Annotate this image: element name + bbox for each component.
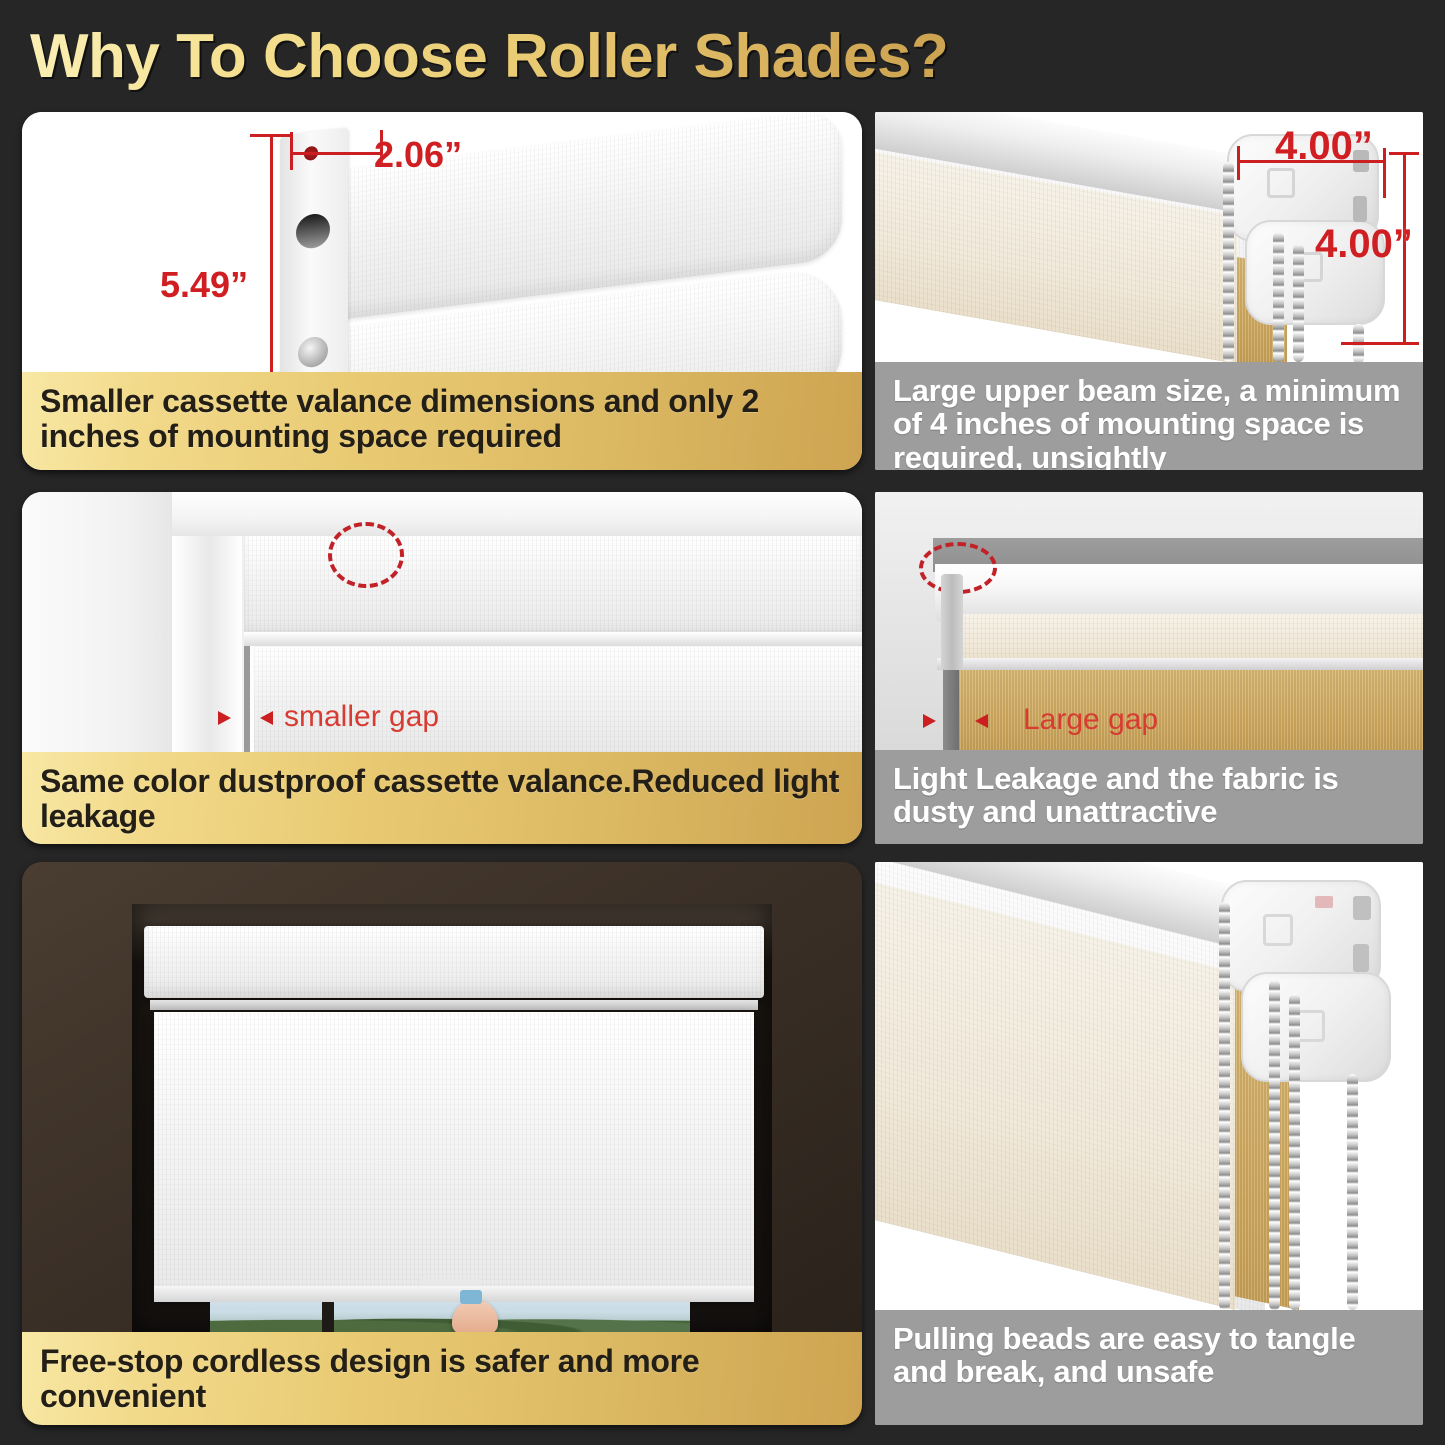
panel-pro-dustproof-valance: smaller gap Same color dustproof cassett…	[22, 492, 862, 844]
bead-chain-4	[1347, 1074, 1358, 1310]
endcap-bracket-tab-mid	[1353, 944, 1369, 972]
fabric-brand-tag	[422, 1278, 480, 1286]
bead-chain-2	[1273, 232, 1284, 362]
window-frame-top	[172, 492, 862, 536]
bead-chain-1	[1223, 162, 1234, 362]
shade-fabric-panel	[154, 1012, 754, 1300]
panel-con-light-leakage: Large gap Light Leakage and the fabric i…	[875, 492, 1423, 844]
panel-photo-cassette-profile: 2.06” 5.49”	[22, 112, 862, 372]
gap-arrow-right	[975, 714, 988, 728]
panel-con-pull-beads: Pulling beads are easy to tangle and bre…	[875, 862, 1423, 1425]
gap-arrow-left	[218, 711, 231, 725]
bead-chain-2	[1269, 980, 1280, 1310]
panel-photo-light-leakage: Large gap	[875, 492, 1423, 750]
caption-con-light-leakage: Light Leakage and the fabric is dusty an…	[875, 750, 1423, 844]
caption-pro-dustproof-valance: Same color dustproof cassette valance.Re…	[22, 752, 862, 844]
panel-con-large-beam: 4.00” 4.00” Large upper beam size, a min…	[875, 112, 1423, 470]
width-dimension-line	[290, 152, 382, 155]
gap-callout-label: smaller gap	[284, 700, 439, 734]
caption-con-large-beam: Large upper beam size, a minimum of 4 in…	[875, 362, 1423, 470]
width-dimension-tick-left	[290, 132, 293, 170]
large-gap-strip	[943, 668, 959, 750]
page-title: Why To Choose Roller Shades?	[30, 18, 1030, 96]
beam-height-label: 4.00”	[1315, 222, 1413, 267]
beam-width-label: 4.00”	[1275, 124, 1373, 169]
infographic-page: Why To Choose Roller Shades? 2.06”	[0, 0, 1445, 1445]
panel-photo-pull-beads	[875, 862, 1423, 1310]
window-frame-left	[22, 492, 192, 752]
bracket-screw-hole	[298, 335, 328, 369]
shade-clip	[941, 574, 963, 670]
width-dimension-label: 2.06”	[374, 134, 462, 176]
bead-chain-1	[1219, 902, 1230, 1310]
panel-pro-cassette-size: 2.06” 5.49” Smaller cassette valance dim…	[22, 112, 862, 470]
shade-fabric	[254, 646, 862, 752]
caption-pro-cassette-size: Smaller cassette valance dimensions and …	[22, 372, 862, 470]
beam-width-tick-left	[1237, 146, 1240, 180]
bead-chain-3	[1293, 244, 1304, 362]
panel-photo-large-beam: 4.00” 4.00”	[875, 112, 1423, 362]
height-dimension-label: 5.49”	[160, 264, 248, 306]
gap-callout-label: Large gap	[1023, 703, 1158, 737]
gap-arrow-right	[260, 711, 273, 725]
fabric-band-edge	[937, 658, 1423, 670]
window-mullion	[322, 1302, 334, 1332]
height-dimension-line	[270, 134, 273, 372]
height-dimension-tick-top	[250, 134, 290, 137]
cream-fabric-band	[941, 614, 1423, 664]
endcap-bracket-tab-mid	[1353, 196, 1367, 222]
shade-pull-tab	[460, 1290, 482, 1304]
bead-chain-3	[1289, 994, 1300, 1310]
beam-height-tick-top	[1389, 152, 1419, 155]
endcap-logo-upper	[1267, 168, 1295, 198]
bracket-slot-upper	[296, 212, 330, 250]
caption-con-pull-beads: Pulling beads are easy to tangle and bre…	[875, 1310, 1423, 1425]
panel-pro-cordless: Free-stop cordless design is safer and m…	[22, 862, 862, 1425]
caption-pro-cordless: Free-stop cordless design is safer and m…	[22, 1332, 862, 1425]
panel-photo-cordless-window	[22, 862, 862, 1332]
gap-arrow-left	[923, 714, 936, 728]
endcap-bracket-tab-top	[1353, 896, 1371, 920]
cassette-head-rail	[144, 926, 764, 998]
gap-highlight-circle	[328, 522, 404, 588]
beam-height-tick-bottom	[1341, 342, 1419, 345]
tree-foliage	[210, 1310, 690, 1332]
beam-width-tick-right	[1383, 148, 1386, 198]
light-gap-line	[244, 646, 250, 752]
head-rail-groove	[150, 1000, 758, 1010]
panel-photo-dustproof-valance: smaller gap	[22, 492, 862, 752]
endcap-pink-detail	[1315, 896, 1333, 908]
endcap-logo-upper	[1263, 914, 1293, 946]
shade-bottom-rail	[154, 1286, 754, 1302]
valance-bottom-lip	[244, 632, 862, 646]
